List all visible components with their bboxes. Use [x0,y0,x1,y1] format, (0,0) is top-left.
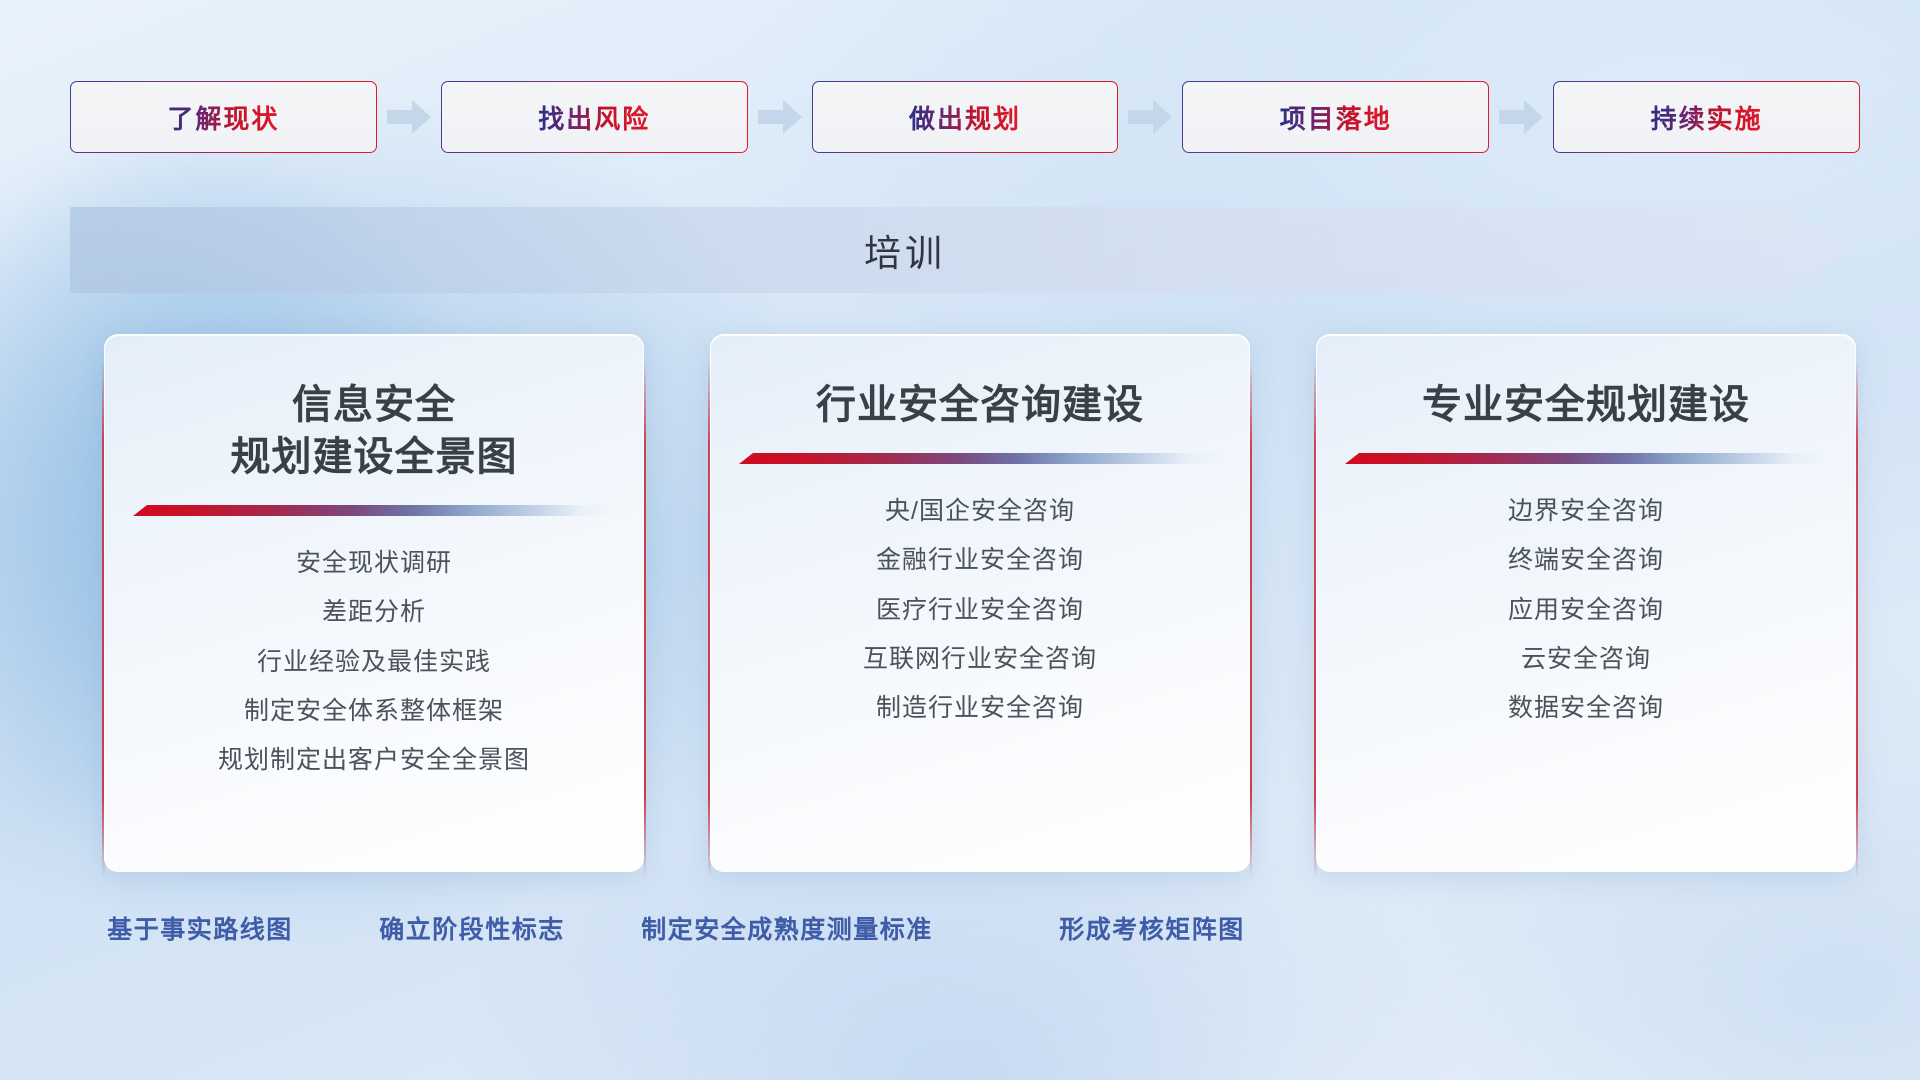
step-label-1: 了解现状 [167,99,279,136]
process-step-flow: 了解现状 找出风险 做出规划 项目落地 持续实施 [70,81,1860,153]
list-item: 央/国企安全咨询 [885,496,1075,527]
list-item: 医疗行业安全咨询 [876,595,1084,626]
card-title-line-3a: 专业安全规划建设 [1422,379,1750,431]
list-item: 制造行业安全咨询 [876,693,1084,724]
step-label-3: 做出规划 [909,99,1021,136]
card-title-line-1a: 信息安全 [231,379,518,431]
capability-card-group: 信息安全 规划建设全景图 安全现状调研 差距分析 行业经验及最佳实践 制定安全体… [104,334,1856,872]
card-divider-3 [1345,453,1827,466]
outcome-label-2: 确立阶段性标志 [379,910,565,946]
arrow-right-icon-4 [1489,81,1553,153]
list-item: 云安全咨询 [1521,644,1651,675]
capability-card-1[interactable]: 信息安全 规划建设全景图 安全现状调研 差距分析 行业经验及最佳实践 制定安全体… [104,334,644,872]
card-wrapper-2: 行业安全咨询建设 央/国企安全咨询 金融行业安全咨询 医疗行业安全咨询 互联网行… [710,334,1250,872]
arrow-right-icon-2 [748,81,812,153]
card-title-line-2a: 行业安全咨询建设 [816,379,1144,431]
background-glow-top-right [1100,0,1920,380]
card-title-1: 信息安全 规划建设全景图 [231,379,518,483]
card-list-2: 央/国企安全咨询 金融行业安全咨询 医疗行业安全咨询 互联网行业安全咨询 制造行… [739,496,1221,724]
arrow-right-icon-3 [1118,81,1182,153]
step-box-2[interactable]: 找出风险 [441,81,748,153]
list-item: 数据安全咨询 [1508,693,1664,724]
step-box-1[interactable]: 了解现状 [70,81,377,153]
outcome-label-4: 形成考核矩阵图 [1059,910,1245,946]
card-list-3: 边界安全咨询 终端安全咨询 应用安全咨询 云安全咨询 数据安全咨询 [1345,496,1827,724]
card-title-2: 行业安全咨询建设 [816,379,1144,431]
list-item: 行业经验及最佳实践 [257,647,491,678]
outcome-label-row: 基于事实路线图 确立阶段性标志 制定安全成熟度测量标准 形成考核矩阵图 [0,910,1920,956]
capability-card-2[interactable]: 行业安全咨询建设 央/国企安全咨询 金融行业安全咨询 医疗行业安全咨询 互联网行… [710,334,1250,872]
step-label-4: 项目落地 [1280,99,1392,136]
list-item: 安全现状调研 [296,548,452,579]
arrow-right-icon-1 [377,81,441,153]
card-wrapper-3: 专业安全规划建设 边界安全咨询 终端安全咨询 应用安全咨询 云安全咨询 数据安全… [1316,334,1856,872]
list-item: 终端安全咨询 [1508,545,1664,576]
capability-card-3[interactable]: 专业安全规划建设 边界安全咨询 终端安全咨询 应用安全咨询 云安全咨询 数据安全… [1316,334,1856,872]
step-label-5: 持续实施 [1651,99,1763,136]
list-item: 互联网行业安全咨询 [863,644,1097,675]
list-item: 制定安全体系整体框架 [244,696,504,727]
list-item: 差距分析 [322,597,426,628]
card-list-1: 安全现状调研 差距分析 行业经验及最佳实践 制定安全体系整体框架 规划制定出客户… [133,548,615,776]
card-wrapper-1: 信息安全 规划建设全景图 安全现状调研 差距分析 行业经验及最佳实践 制定安全体… [104,334,644,872]
card-divider-1 [133,505,615,518]
list-item: 应用安全咨询 [1508,595,1664,626]
list-item: 边界安全咨询 [1508,496,1664,527]
step-box-3[interactable]: 做出规划 [812,81,1119,153]
step-box-4[interactable]: 项目落地 [1182,81,1489,153]
card-title-line-1b: 规划建设全景图 [231,431,518,483]
banner-label: 培训 [70,207,1860,293]
outcome-label-1: 基于事实路线图 [107,910,293,946]
outcome-label-3: 制定安全成熟度测量标准 [641,910,933,946]
step-label-2: 找出风险 [538,99,650,136]
list-item: 金融行业安全咨询 [876,545,1084,576]
training-banner: 培训 [70,207,1860,293]
step-box-5[interactable]: 持续实施 [1553,81,1860,153]
card-title-3: 专业安全规划建设 [1422,379,1750,431]
list-item: 规划制定出客户安全全景图 [218,745,530,776]
card-divider-2 [739,453,1221,466]
